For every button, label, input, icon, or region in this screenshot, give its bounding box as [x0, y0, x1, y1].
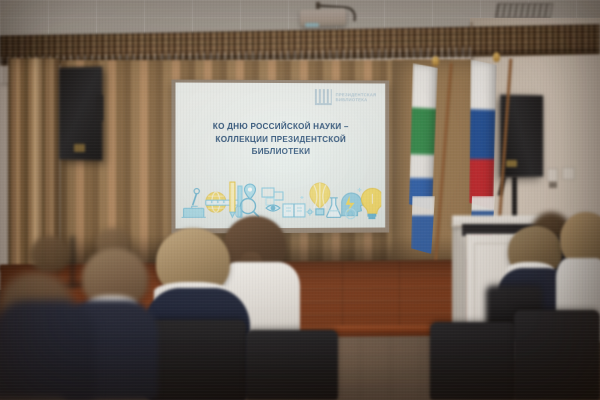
chair-back-far-right [514, 310, 600, 400]
flagpole-finial-right [493, 52, 500, 62]
eye-icon [266, 205, 280, 211]
laptop-icon [182, 208, 206, 217]
circuit-icon [306, 208, 314, 216]
wall-panel-switch[interactable] [549, 182, 557, 188]
book-icon [283, 204, 305, 217]
slide-title-line-1: КО ДНЮ РОССИЙСКОЙ НАУКИ – [190, 121, 372, 134]
speaker-brand-badge [74, 144, 85, 152]
chair-back-right [430, 322, 516, 400]
projection-screen[interactable]: ПРЕЗИДЕНТСКАЯ БИБЛИОТЕКА КО ДНЮ РОССИЙСК… [175, 83, 385, 229]
slide-title-line-3: БИБЛИОТЕКИ [190, 146, 372, 159]
speaker-brand-badge-right [506, 160, 517, 167]
light-switch[interactable] [547, 168, 558, 182]
blocks-icon [262, 188, 283, 205]
location-pin-icon [244, 184, 255, 199]
pencil-icon [230, 182, 235, 217]
speaker-mount-bracket [96, 95, 103, 121]
russian-national-flag [468, 59, 497, 210]
presentation-hall-photo: ПРЕЗИДЕНТСКАЯ БИБЛИОТЕКА КО ДНЮ РОССИЙСК… [0, 0, 600, 400]
presidential-library-logo: ПРЕЗИДЕНТСКАЯ БИБЛИОТЕКА [315, 89, 377, 105]
slide-title-line-2: КОЛЛЕКЦИИ ПРЕЗИДЕНТСКОЙ [190, 133, 372, 146]
chair-back-center [150, 320, 246, 400]
hot-air-balloon-icon [310, 183, 330, 215]
slide-title: КО ДНЮ РОССИЙСКОЙ НАУКИ – КОЛЛЕКЦИИ ПРЕЗ… [190, 121, 372, 159]
power-outlet[interactable] [562, 167, 575, 180]
flagpole-finial-left [432, 56, 439, 66]
lightbulb-icon [362, 188, 382, 219]
microphone-stand [71, 236, 74, 288]
child-torso-foreground [0, 300, 96, 400]
flask-icon [327, 198, 341, 217]
child-head-far-left [30, 236, 70, 272]
projector-lens-icon [305, 23, 319, 27]
ventilation-grille-icon [495, 3, 553, 18]
regional-flag-lower-fold [411, 196, 435, 254]
library-logo-text: ПРЕЗИДЕНТСКАЯ БИБЛИОТЕКА [336, 92, 377, 103]
science-icons-strip [180, 176, 382, 224]
chair-back-center-right [246, 330, 338, 400]
magnifying-glass-icon [240, 199, 259, 218]
library-logo-mark-icon [315, 89, 332, 105]
